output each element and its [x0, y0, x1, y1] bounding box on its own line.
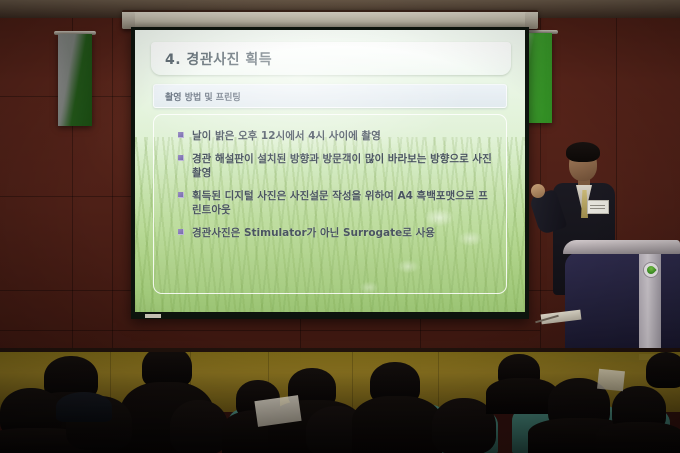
slide-subtitle-box: 촬영 방법 및 프린팅	[153, 84, 507, 108]
list-item: 획득된 디지털 사진은 사진설문 작성을 위하여 A4 흑백포맷으로 프린트아웃	[168, 189, 496, 217]
audience	[0, 352, 680, 453]
presenter-hand	[531, 184, 545, 198]
presenter-name-badge	[587, 200, 609, 214]
bullet-text: 획득된 디지털 사진은 사진설문 작성을 위하여 A4 흑백포맷으로 프린트아웃	[192, 189, 496, 217]
banner-shadow-overlay	[58, 34, 92, 126]
banner-left	[58, 34, 92, 126]
bullet-text: 날이 밝은 오후 12시에서 4시 사이에 촬영	[192, 129, 381, 143]
bullet-marker-icon	[178, 229, 184, 235]
bullet-marker-icon	[178, 132, 184, 138]
bullet-marker-icon	[178, 155, 184, 161]
audience-shoulders	[596, 422, 680, 453]
podium-body	[565, 252, 680, 362]
projector-screen: 4. 경관사진 획득 촬영 방법 및 프린팅 날이 밝은 오후 12시에서 4시…	[131, 27, 529, 319]
list-item: 경관 해설판이 설치된 방향과 방문객이 많이 바라보는 방향으로 사진 촬영	[168, 152, 496, 180]
screen-pull-tab	[145, 314, 161, 318]
slide-title: 4. 경관사진 획득	[165, 49, 272, 69]
list-item: 날이 밝은 오후 12시에서 4시 사이에 촬영	[168, 129, 496, 143]
badge-text-line	[590, 208, 605, 209]
bullet-text: 경관사진은 Stimulator가 아닌 Surrogate로 사용	[192, 226, 435, 240]
audience-head	[170, 400, 228, 453]
badge-text-line	[590, 205, 605, 206]
audience-head	[646, 352, 680, 388]
podium	[563, 240, 680, 362]
presenter-hair	[566, 142, 600, 162]
bullet-text: 경관 해설판이 설치된 방향과 방문객이 많이 바라보는 방향으로 사진 촬영	[192, 152, 496, 180]
audience-shoulders	[352, 396, 442, 453]
leaf-emblem-icon	[643, 262, 659, 278]
list-item: 경관사진은 Stimulator가 아닌 Surrogate로 사용	[168, 226, 496, 240]
slide-title-box: 4. 경관사진 획득	[151, 42, 511, 75]
presentation-photo-scene: 젼 4. 경관사진 획득 촬영 방법 및 프린팅 날이 밝은 오후 12시에서 …	[0, 0, 680, 453]
podium-top-surface	[563, 240, 680, 254]
bullet-marker-icon	[178, 192, 184, 198]
slide-subtitle: 촬영 방법 및 프린팅	[165, 90, 241, 103]
slide-body-box: 날이 밝은 오후 12시에서 4시 사이에 촬영 경관 해설판이 설치된 방향과…	[153, 114, 507, 294]
slide-bullet-list: 날이 밝은 오후 12시에서 4시 사이에 촬영 경관 해설판이 설치된 방향과…	[168, 129, 496, 249]
podium-side-panel	[639, 254, 661, 360]
audience-handout	[597, 369, 625, 392]
audience-cap	[56, 392, 112, 422]
slide-surface: 4. 경관사진 획득 촬영 방법 및 프린팅 날이 밝은 오후 12시에서 4시…	[135, 30, 525, 312]
